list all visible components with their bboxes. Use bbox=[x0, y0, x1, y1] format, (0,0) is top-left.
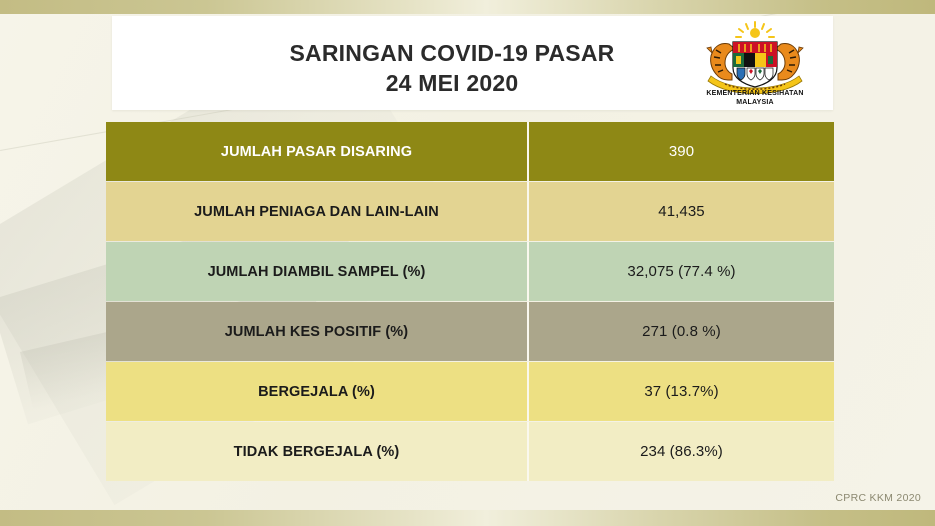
row-value: 390 bbox=[529, 122, 834, 181]
malaysia-coat-of-arms-icon bbox=[685, 20, 825, 98]
row-label: BERGEJALA (%) bbox=[106, 362, 529, 421]
tiger-right-icon bbox=[775, 43, 803, 80]
logo-caption: KEMENTERIAN KESIHATAN MALAYSIA bbox=[685, 89, 825, 107]
title-card: SARINGAN COVID-19 PASAR 24 MEI 2020 bbox=[112, 16, 833, 110]
table-row: JUMLAH DIAMBIL SAMPEL (%) 32,075 (77.4 %… bbox=[106, 242, 834, 301]
shield-icon bbox=[733, 42, 777, 87]
footer-credit: CPRC KKM 2020 bbox=[835, 492, 921, 504]
row-label: JUMLAH DIAMBIL SAMPEL (%) bbox=[106, 242, 529, 301]
row-label: JUMLAH KES POSITIF (%) bbox=[106, 302, 529, 361]
title-line-2: 24 MEI 2020 bbox=[172, 68, 732, 98]
row-label: JUMLAH PASAR DISARING bbox=[106, 122, 529, 181]
table-row: TIDAK BERGEJALA (%) 234 (86.3%) bbox=[106, 422, 834, 481]
logo-caption-line-2: MALAYSIA bbox=[685, 98, 825, 107]
slide-canvas: SARINGAN COVID-19 PASAR 24 MEI 2020 bbox=[0, 0, 935, 526]
page-title: SARINGAN COVID-19 PASAR 24 MEI 2020 bbox=[172, 38, 732, 98]
row-value: 271 (0.8 %) bbox=[529, 302, 834, 361]
table-row: BERGEJALA (%) 37 (13.7%) bbox=[106, 362, 834, 421]
ministry-logo: KEMENTERIAN KESIHATAN MALAYSIA bbox=[685, 20, 825, 108]
logo-caption-line-1: KEMENTERIAN KESIHATAN bbox=[685, 89, 825, 98]
row-label: TIDAK BERGEJALA (%) bbox=[106, 422, 529, 481]
top-accent-bar bbox=[0, 0, 935, 14]
row-value: 32,075 (77.4 %) bbox=[529, 242, 834, 301]
title-line-1: SARINGAN COVID-19 PASAR bbox=[172, 38, 732, 68]
tiger-left-icon bbox=[707, 43, 735, 80]
row-value: 234 (86.3%) bbox=[529, 422, 834, 481]
table-row: JUMLAH PASAR DISARING 390 bbox=[106, 122, 834, 181]
table-row: JUMLAH PENIAGA DAN LAIN-LAIN 41,435 bbox=[106, 182, 834, 241]
table-row: JUMLAH KES POSITIF (%) 271 (0.8 %) bbox=[106, 302, 834, 361]
covid-screening-table: JUMLAH PASAR DISARING 390 JUMLAH PENIAGA… bbox=[106, 122, 834, 482]
row-value: 37 (13.7%) bbox=[529, 362, 834, 421]
row-value: 41,435 bbox=[529, 182, 834, 241]
row-label: JUMLAH PENIAGA DAN LAIN-LAIN bbox=[106, 182, 529, 241]
bottom-accent-bar bbox=[0, 510, 935, 526]
